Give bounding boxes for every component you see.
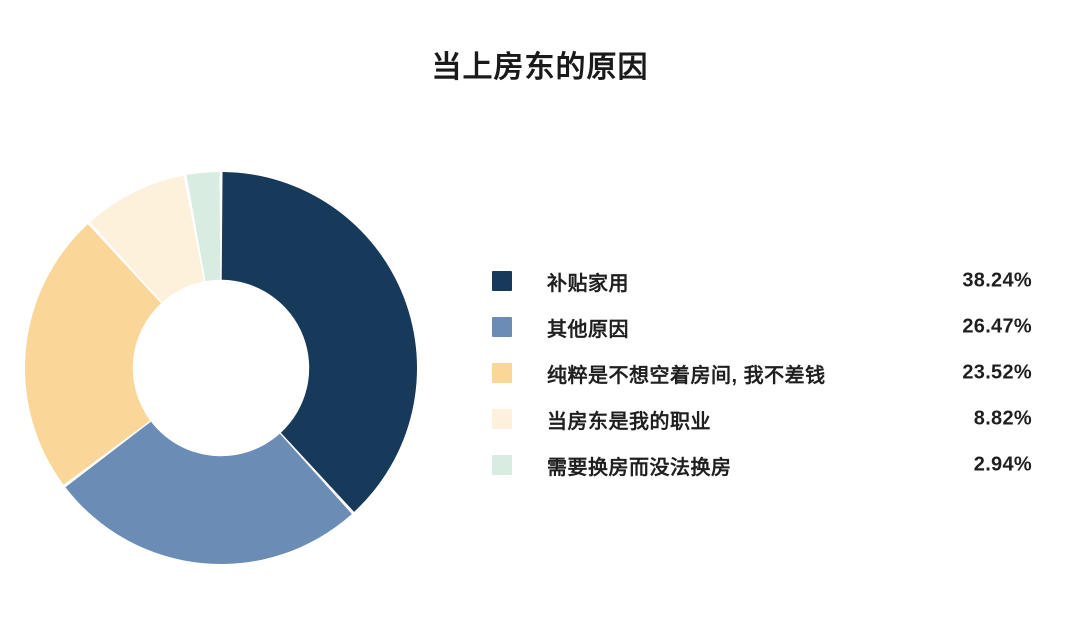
legend-value-4: 2.94%	[974, 454, 1032, 477]
chart-legend: 补贴家用 38.24% 其他原因 26.47% 纯粹是不想空着房间, 我不差钱 …	[492, 258, 1032, 488]
legend-swatch-icon-3	[492, 409, 512, 429]
legend-swatch-icon-4	[492, 455, 512, 475]
legend-swatch-icon-0	[492, 271, 512, 291]
legend-label-2: 纯粹是不想空着房间, 我不差钱	[547, 359, 826, 388]
legend-value-0: 38.24%	[962, 270, 1032, 293]
legend-swatch-icon-2	[492, 363, 512, 383]
legend-item-1[interactable]: 其他原因 26.47%	[492, 304, 1032, 350]
legend-swatch-icon-1	[492, 317, 512, 337]
legend-item-4[interactable]: 需要换房而没法换房 2.94%	[492, 442, 1032, 488]
legend-item-0[interactable]: 补贴家用 38.24%	[492, 258, 1032, 304]
legend-item-2[interactable]: 纯粹是不想空着房间, 我不差钱 23.52%	[492, 350, 1032, 396]
donut-chart-svg	[23, 170, 419, 566]
legend-label-1: 其他原因	[547, 313, 629, 342]
legend-item-3[interactable]: 当房东是我的职业 8.82%	[492, 396, 1032, 442]
page-title: 当上房东的原因	[0, 48, 1080, 88]
donut-chart	[23, 170, 419, 566]
legend-label-3: 当房东是我的职业	[547, 405, 711, 434]
legend-value-2: 23.52%	[962, 362, 1032, 385]
donut-slice-group	[25, 172, 417, 564]
legend-label-0: 补贴家用	[547, 267, 629, 296]
chart-page: 当上房东的原因 补贴家用 38.24% 其他原因 26.47% 纯粹是不想空着房…	[0, 0, 1080, 625]
legend-value-1: 26.47%	[962, 316, 1032, 339]
legend-label-4: 需要换房而没法换房	[547, 451, 732, 480]
legend-value-3: 8.82%	[974, 408, 1032, 431]
